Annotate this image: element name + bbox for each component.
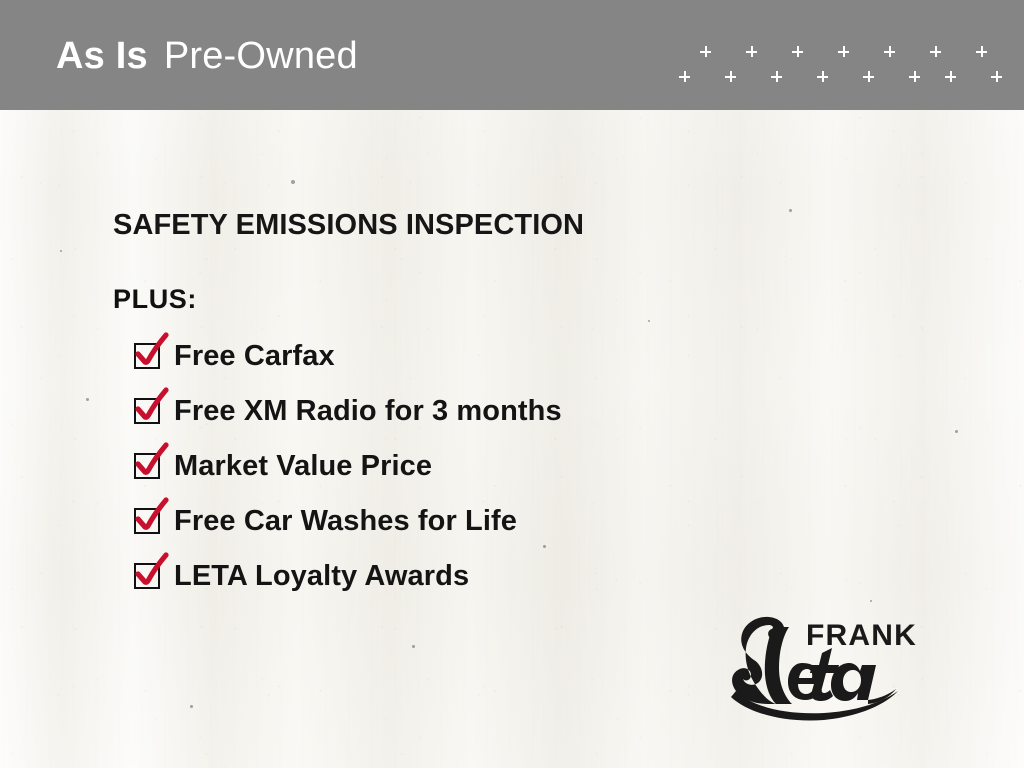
list-item: Free XM Radio for 3 months (134, 384, 913, 439)
check-mark-icon (133, 387, 170, 424)
plus-mark-icon (679, 71, 690, 82)
plus-mark-icon (976, 46, 987, 57)
slide-content: SAFETY EMISSIONS INSPECTION PLUS: Free C… (113, 210, 913, 604)
checkbox-checked (134, 343, 160, 369)
list-item-label: LETA Loyalty Awards (174, 560, 469, 593)
title-strong-text: As Is (56, 35, 148, 77)
list-item: LETA Loyalty Awards (134, 549, 913, 604)
list-item: Free Carfax (134, 329, 913, 384)
checkbox-checked (134, 508, 160, 534)
plus-mark-icon (838, 46, 849, 57)
check-mark-icon (133, 497, 170, 534)
plus-mark-icon (991, 71, 1002, 82)
checkbox-checked (134, 398, 160, 424)
title-light-text: Pre-Owned (164, 35, 358, 77)
page-title: As IsPre-Owned (56, 37, 358, 75)
checkbox-checked (134, 563, 160, 589)
frank-leta-logo: FRANK (706, 603, 916, 723)
list-item: Market Value Price (134, 439, 913, 494)
list-item-label: Free XM Radio for 3 months (174, 395, 562, 428)
plus-mark-icon (746, 46, 757, 57)
logo-frank-text: FRANK (806, 619, 916, 652)
benefits-check-list: Free Carfax Free XM Radio for 3 months (113, 329, 913, 604)
list-item: Free Car Washes for Life (134, 494, 913, 549)
plus-mark-icon (700, 46, 711, 57)
subheading-text: SAFETY EMISSIONS INSPECTION (113, 210, 913, 242)
check-mark-icon (133, 332, 170, 369)
plus-mark-icon (792, 46, 803, 57)
plus-label-text: PLUS: (113, 284, 913, 315)
checkbox-checked (134, 453, 160, 479)
list-item-label: Free Carfax (174, 340, 335, 373)
list-item-label: Free Car Washes for Life (174, 505, 517, 538)
slide: As IsPre-Owned SAFETY EMISSIONS INSPECTI… (0, 0, 1024, 768)
list-item-label: Market Value Price (174, 450, 432, 483)
check-mark-icon (133, 442, 170, 479)
plus-mark-icon (930, 46, 941, 57)
header-bar: As IsPre-Owned (0, 0, 1024, 110)
plus-mark-icon (771, 71, 782, 82)
plus-mark-icon (863, 71, 874, 82)
plus-mark-icon (884, 46, 895, 57)
check-mark-icon (133, 552, 170, 589)
plus-mark-icon (817, 71, 828, 82)
plus-mark-icon (725, 71, 736, 82)
plus-mark-icon (945, 71, 956, 82)
plus-mark-icon (909, 71, 920, 82)
